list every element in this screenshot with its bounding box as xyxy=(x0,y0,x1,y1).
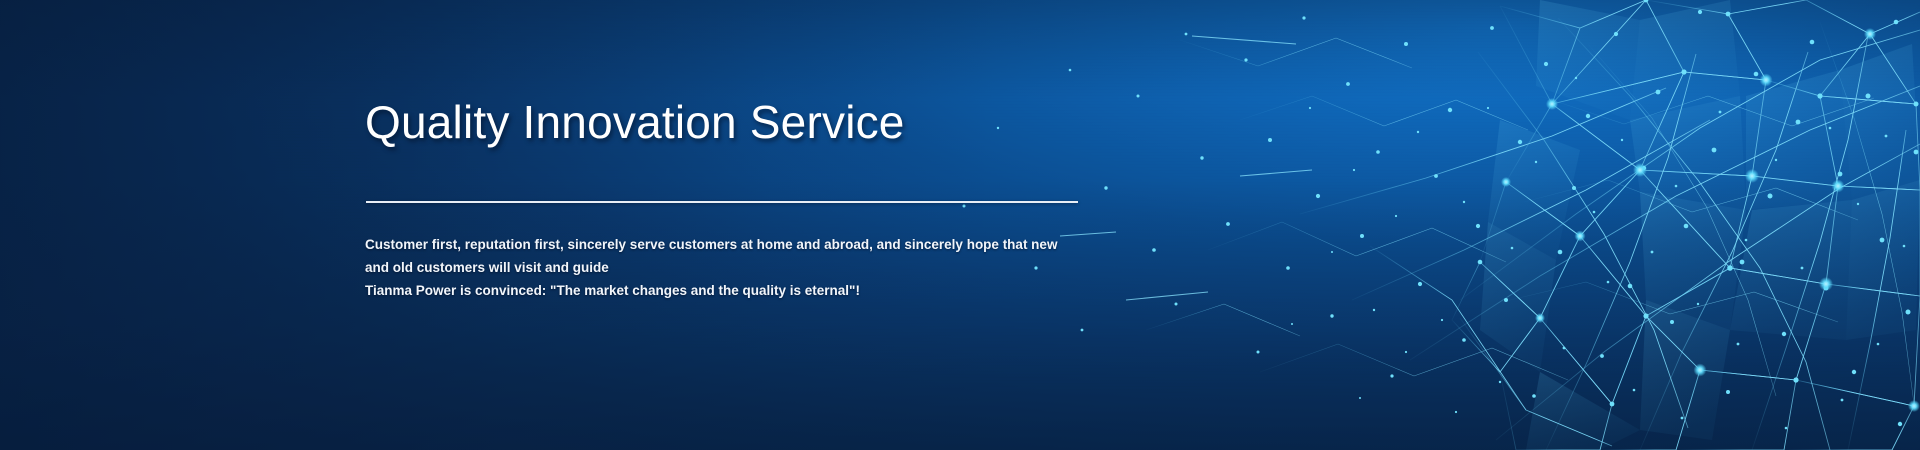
description-line-2: and old customers will visit and guide xyxy=(365,256,1125,279)
page-title: Quality Innovation Service xyxy=(365,98,905,148)
description-line-3: Tianma Power is convinced: "The market c… xyxy=(365,279,1125,302)
description-line-1: Customer first, reputation first, sincer… xyxy=(365,233,1125,256)
hero-banner: Quality Innovation Service Customer firs… xyxy=(0,0,1920,450)
banner-copy: Quality Innovation Service Customer firs… xyxy=(365,0,1145,450)
title-divider xyxy=(366,201,1078,203)
banner-description: Customer first, reputation first, sincer… xyxy=(365,233,1125,302)
